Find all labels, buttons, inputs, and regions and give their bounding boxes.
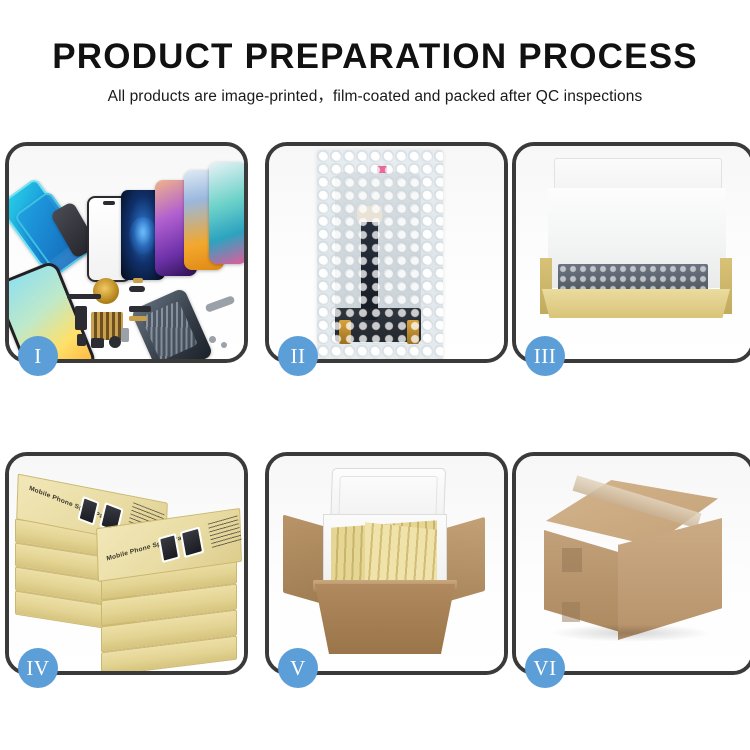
panel-4-image: Mobile Phone Spare Parts Mobile Phone Sp… [9, 456, 244, 671]
phone-opened-back-icon [130, 287, 213, 359]
small-part-icon-3 [75, 306, 87, 330]
carton-left-face [544, 530, 620, 632]
connector-tape [357, 206, 382, 222]
process-panel-grid: I II [0, 0, 750, 750]
carton-front-panel [315, 584, 455, 654]
process-step-panel-3[interactable]: III [512, 142, 750, 363]
step-badge-1: I [18, 336, 58, 376]
phone-parts-artwork [9, 146, 244, 359]
box-window-1 [77, 496, 99, 526]
small-part-icon-1 [129, 286, 145, 292]
box-spec-lines [208, 515, 242, 548]
gold-contact-right [407, 320, 419, 344]
box-window-2 [180, 526, 204, 558]
box-stack-artwork: Mobile Phone Spare Parts Mobile Phone Sp… [15, 474, 241, 664]
small-part-icon-5 [91, 338, 104, 348]
phone-green-icon [209, 162, 244, 264]
process-step-panel-4[interactable]: Mobile Phone Spare Parts Mobile Phone Sp… [5, 452, 248, 675]
panel-2-image [269, 146, 504, 359]
small-part-icon-4 [77, 334, 86, 346]
flex-strip-part-icon [67, 294, 101, 299]
small-part-icon-2 [133, 278, 143, 283]
step-badge-4: IV [18, 648, 58, 688]
sealed-carton-artwork [516, 456, 750, 671]
coil-part-icon [93, 278, 119, 304]
tweezers-icon [205, 295, 236, 313]
flex-cable [361, 212, 378, 320]
carton-flap-seam-top [562, 548, 582, 572]
small-part-icon-7 [121, 328, 129, 342]
open-box-artwork [516, 146, 750, 359]
screw-icon-2 [221, 342, 227, 348]
step-badge-3: III [525, 336, 565, 376]
box-front-panel [542, 289, 730, 318]
process-step-panel-2[interactable]: II [265, 142, 508, 363]
step-badge-5: V [278, 648, 318, 688]
process-step-panel-5[interactable]: V [265, 452, 508, 675]
bubble-bag [317, 150, 443, 359]
gold-contact-left [339, 320, 351, 344]
step-badge-2: II [278, 336, 318, 376]
small-part-icon-9 [129, 316, 147, 321]
carton-foam-artwork [269, 456, 504, 671]
panel-1-image [9, 146, 244, 359]
process-step-panel-6[interactable]: VI [512, 452, 750, 675]
panel-3-image [516, 146, 750, 359]
process-step-panel-1[interactable]: I [5, 142, 248, 363]
chip-grid-part-icon [91, 312, 123, 340]
step-badge-6: VI [525, 648, 565, 688]
carton-flap-seam-bottom [562, 602, 580, 622]
panel-5-image [269, 456, 504, 671]
small-part-icon-8 [129, 306, 151, 312]
bubble-wrap-artwork [269, 146, 504, 359]
small-part-icon-6 [109, 336, 121, 348]
screw-icon-1 [209, 336, 216, 343]
carton-shadow [550, 624, 712, 642]
panel-6-image [516, 456, 750, 671]
pink-qc-sticker [377, 166, 387, 173]
inner-yellow-boxes-row-2 [365, 522, 437, 588]
